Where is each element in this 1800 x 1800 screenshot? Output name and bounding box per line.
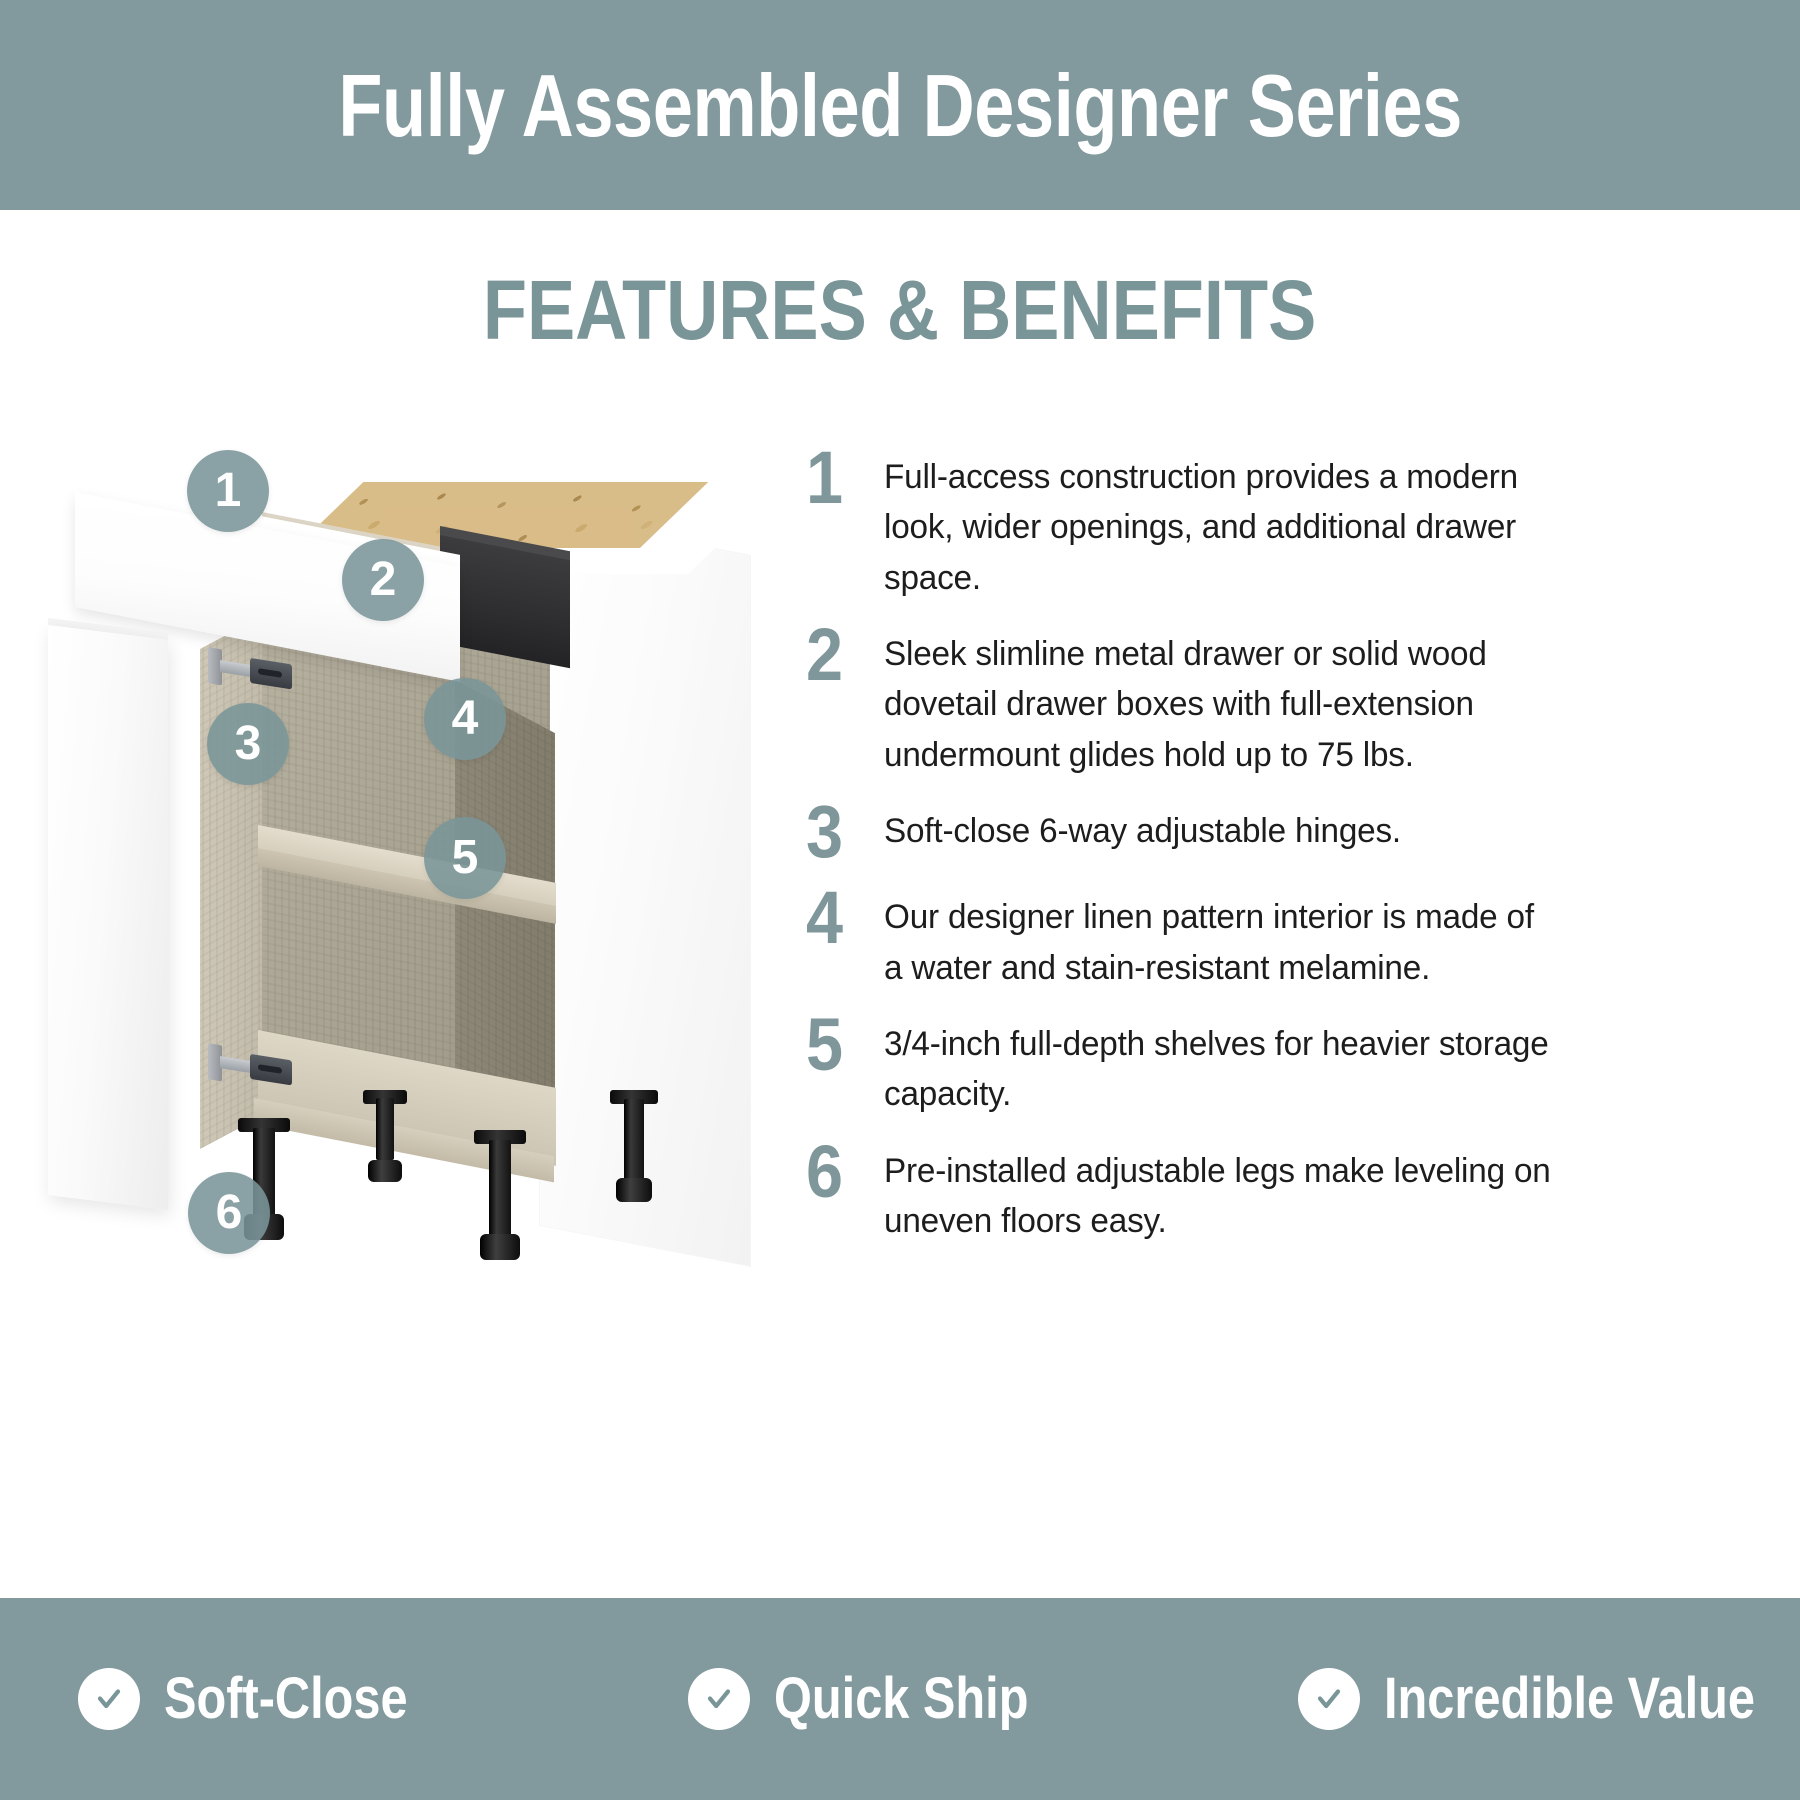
feature-text: Sleek slimline metal drawer or solid woo… xyxy=(884,629,1560,780)
adjustable-leg xyxy=(608,1090,660,1202)
footer-bar: Soft-Close Quick Ship Incredible Value xyxy=(0,1598,1800,1800)
leg-shaft xyxy=(624,1099,644,1181)
feature-number: 4 xyxy=(806,884,876,952)
feature-number: 1 xyxy=(806,444,876,512)
check-circle-icon xyxy=(1298,1668,1360,1730)
callout-badge-number: 2 xyxy=(370,556,397,604)
callout-badge-number: 4 xyxy=(452,695,479,743)
feature-number: 3 xyxy=(806,798,876,866)
feature-item-1: 1 Full-access construction provides a mo… xyxy=(806,452,1766,603)
callout-badge-4[interactable]: 4 xyxy=(424,678,506,760)
callout-badge-2[interactable]: 2 xyxy=(342,539,424,621)
section-heading: FEATURES & BENEFITS xyxy=(0,268,1800,352)
footer-item-incredible-value: Incredible Value xyxy=(1200,1668,1800,1730)
footer-item-label: Incredible Value xyxy=(1384,1670,1755,1728)
cabinet-door xyxy=(48,625,168,1210)
leg-foot xyxy=(616,1178,652,1202)
adjustable-leg xyxy=(472,1130,528,1260)
feature-item-3: 3 Soft-close 6-way adjustable hinges. xyxy=(806,806,1766,866)
leg-foot xyxy=(480,1234,520,1260)
feature-text: Full-access construction provides a mode… xyxy=(884,452,1560,603)
check-circle-icon xyxy=(688,1668,750,1730)
adjustable-leg xyxy=(362,1090,408,1182)
section-heading-label: FEATURES & BENEFITS xyxy=(483,268,1316,352)
callout-badge-number: 3 xyxy=(235,720,262,768)
callout-badge-number: 6 xyxy=(216,1189,243,1237)
leg-shaft xyxy=(376,1098,394,1160)
callout-badge-1[interactable]: 1 xyxy=(187,450,269,532)
feature-text: Pre-installed adjustable legs make level… xyxy=(884,1146,1560,1247)
product-image: 1 2 3 4 5 6 xyxy=(40,430,810,1410)
hinge-cup xyxy=(250,1054,292,1086)
feature-item-2: 2 Sleek slimline metal drawer or solid w… xyxy=(806,629,1766,780)
callout-badge-5[interactable]: 5 xyxy=(424,817,506,899)
page-title: Fully Assembled Designer Series xyxy=(338,62,1462,150)
leg-shaft xyxy=(489,1140,511,1238)
footer-item-label: Soft-Close xyxy=(164,1670,408,1728)
footer-item-quick-ship: Quick Ship xyxy=(600,1668,1200,1730)
hinge-arm xyxy=(220,1056,254,1073)
callout-badge-6[interactable]: 6 xyxy=(188,1172,270,1254)
hinge-arm xyxy=(220,660,254,677)
feature-text: 3/4-inch full-depth shelves for heavier … xyxy=(884,1019,1560,1120)
feature-item-4: 4 Our designer linen pattern interior is… xyxy=(806,892,1766,993)
callout-badge-3[interactable]: 3 xyxy=(207,703,289,785)
features-list: 1 Full-access construction provides a mo… xyxy=(806,452,1766,1246)
callout-badge-number: 5 xyxy=(452,834,479,882)
cabinet-render xyxy=(40,430,810,1410)
footer-item-soft-close: Soft-Close xyxy=(0,1668,600,1730)
feature-number: 2 xyxy=(806,621,876,689)
header-bar: Fully Assembled Designer Series xyxy=(0,0,1800,210)
check-circle-icon xyxy=(78,1668,140,1730)
hinge-cup xyxy=(250,658,292,690)
leg-foot xyxy=(368,1160,402,1182)
feature-item-5: 5 3/4-inch full-depth shelves for heavie… xyxy=(806,1019,1766,1120)
feature-item-6: 6 Pre-installed adjustable legs make lev… xyxy=(806,1146,1766,1247)
marketing-infographic: Fully Assembled Designer Series FEATURES… xyxy=(0,0,1800,1800)
feature-text: Soft-close 6-way adjustable hinges. xyxy=(884,806,1560,856)
callout-badge-number: 1 xyxy=(215,467,242,515)
feature-number: 5 xyxy=(806,1011,876,1079)
footer-item-label: Quick Ship xyxy=(774,1670,1028,1728)
feature-text: Our designer linen pattern interior is m… xyxy=(884,892,1560,993)
feature-number: 6 xyxy=(806,1138,876,1206)
